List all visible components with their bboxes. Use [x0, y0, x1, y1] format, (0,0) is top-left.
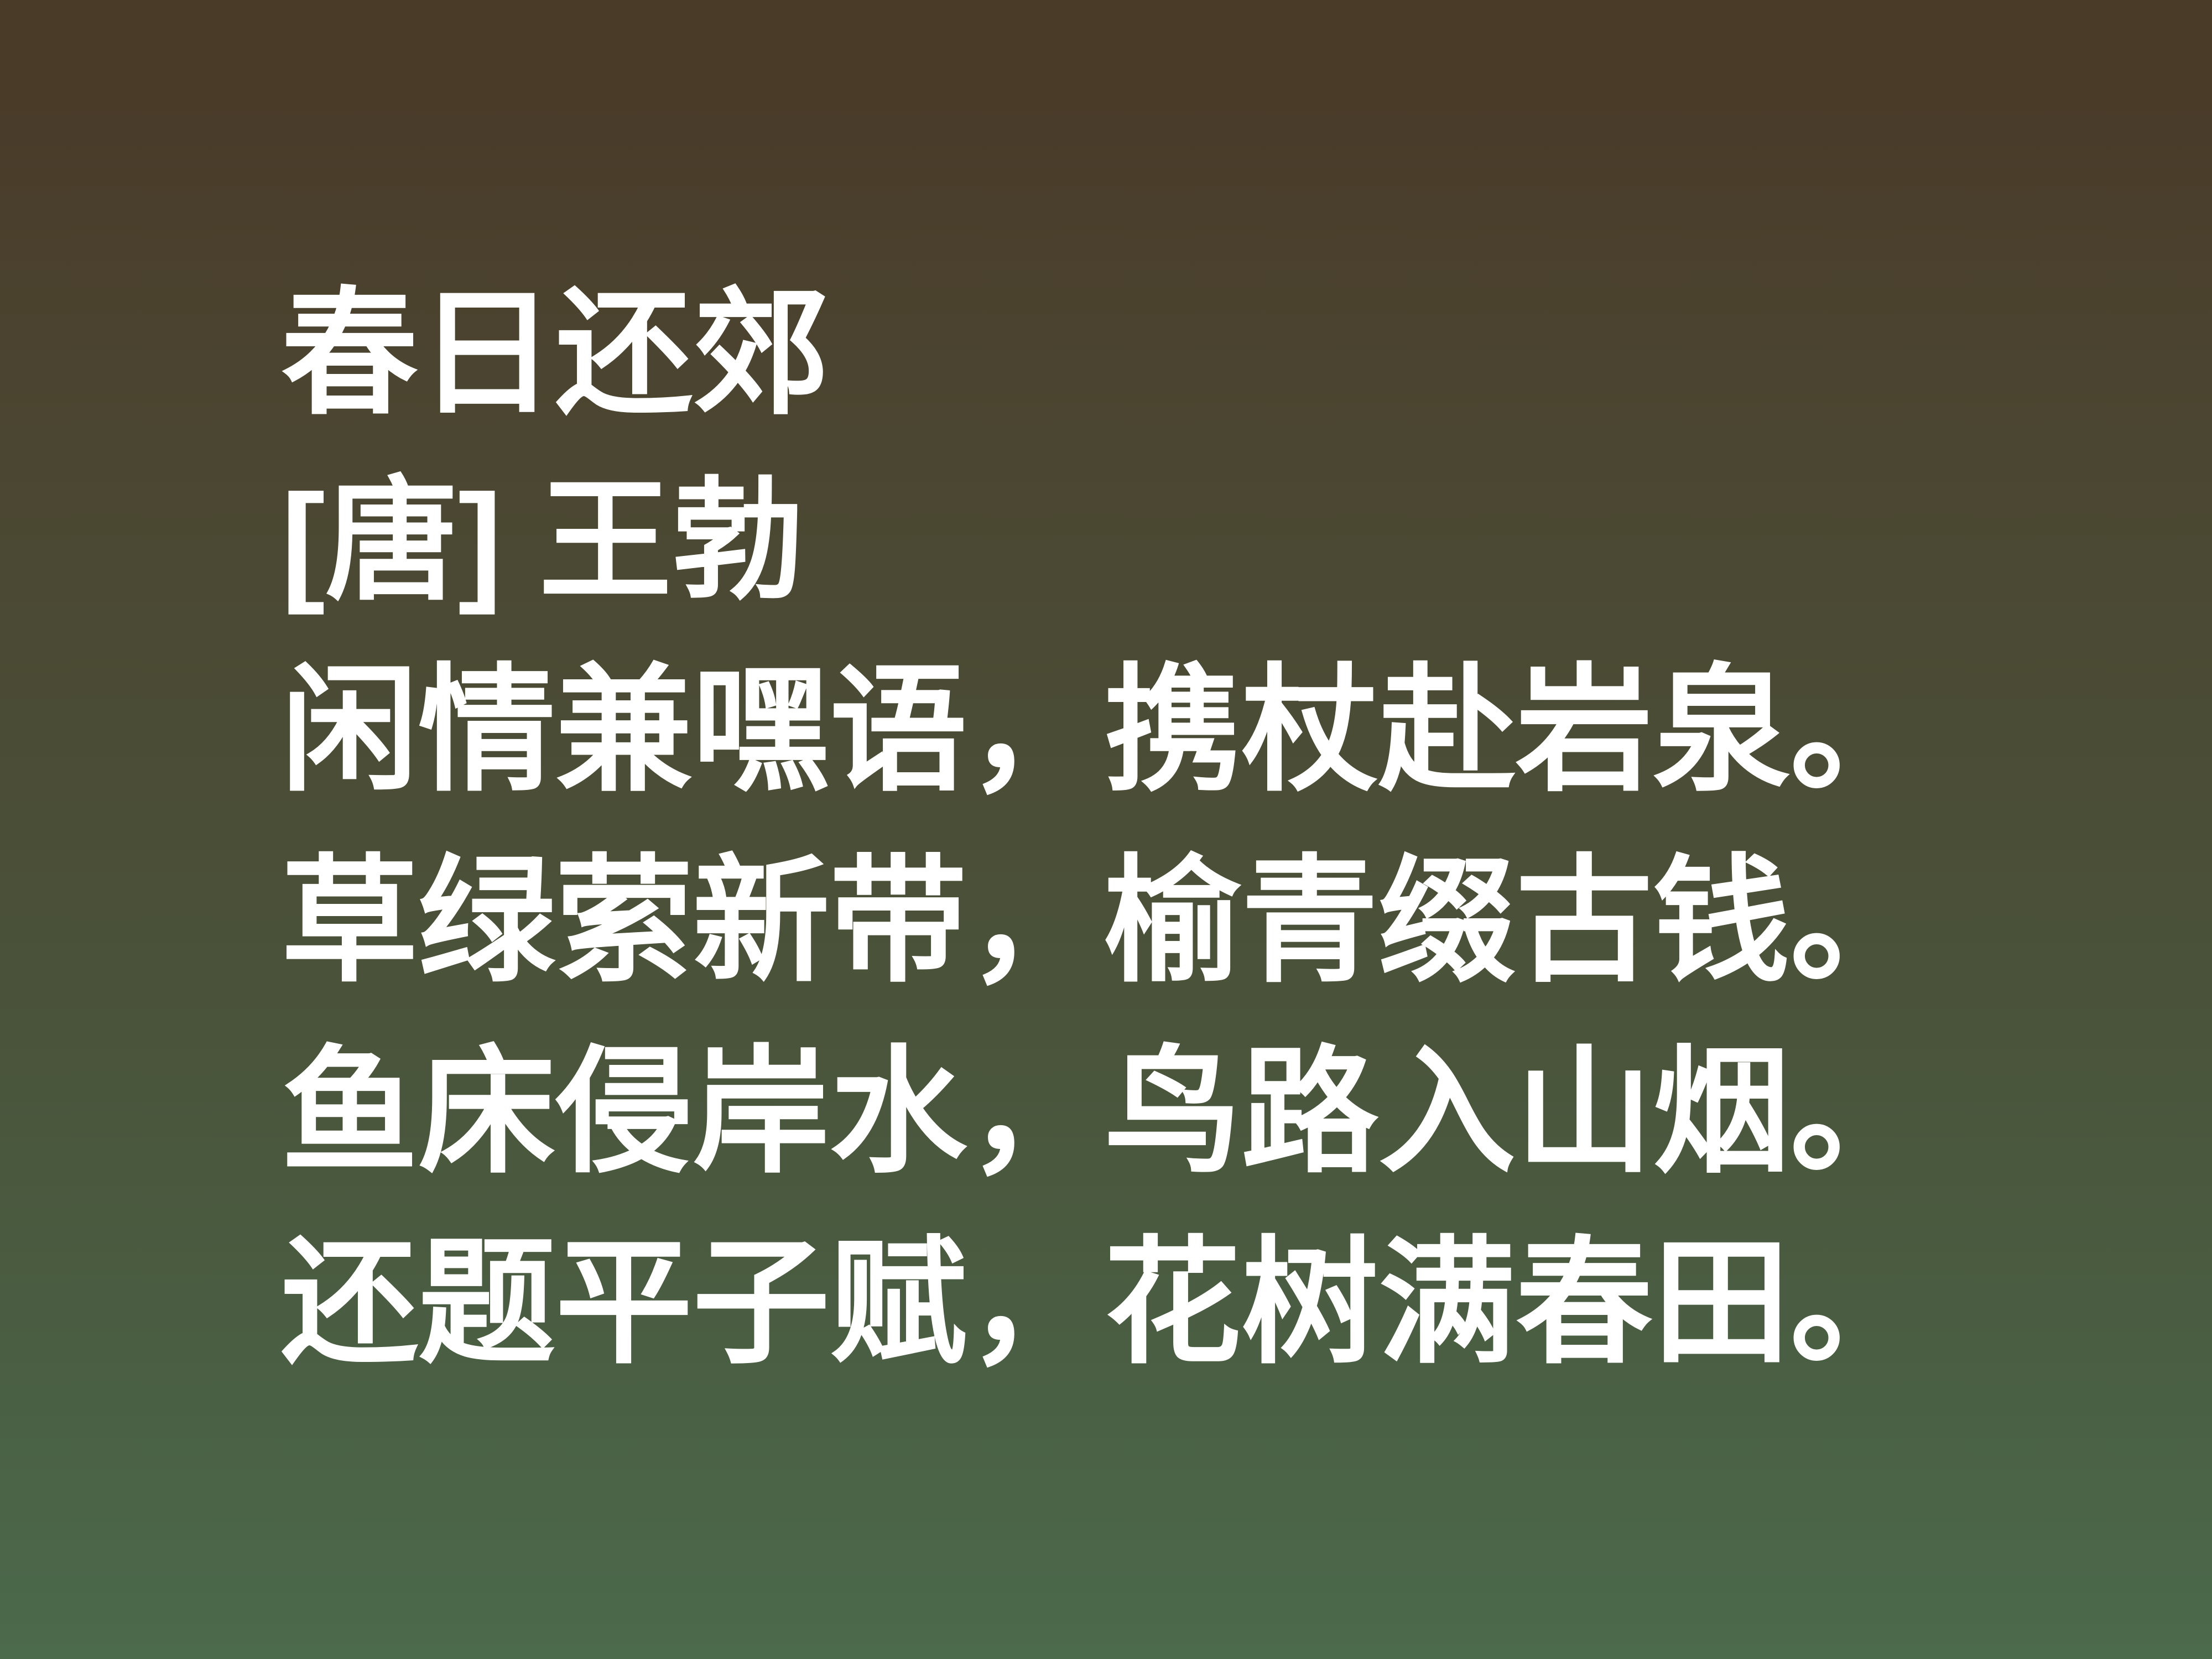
poem-title: 春日还郊: [281, 260, 2106, 447]
poem-line-3: 鱼床侵岸水，鸟路入山烟。: [281, 1017, 2106, 1208]
poem-text-block: 春日还郊 [唐] 王勃 闲情兼嘿语，携杖赴岩泉。 草绿萦新带，榆青缀古钱。 鱼床…: [281, 260, 2106, 1398]
poem-line-1: 闲情兼嘿语，携杖赴岩泉。: [281, 635, 2106, 826]
poem-line-2: 草绿萦新带，榆青缀古钱。: [281, 826, 2106, 1017]
poem-line-4: 还题平子赋，花树满春田。: [281, 1208, 2106, 1398]
poem-poster: 春日还郊 [唐] 王勃 闲情兼嘿语，携杖赴岩泉。 草绿萦新带，榆青缀古钱。 鱼床…: [0, 0, 2212, 1659]
poem-attribution: [唐] 王勃: [281, 447, 2106, 635]
